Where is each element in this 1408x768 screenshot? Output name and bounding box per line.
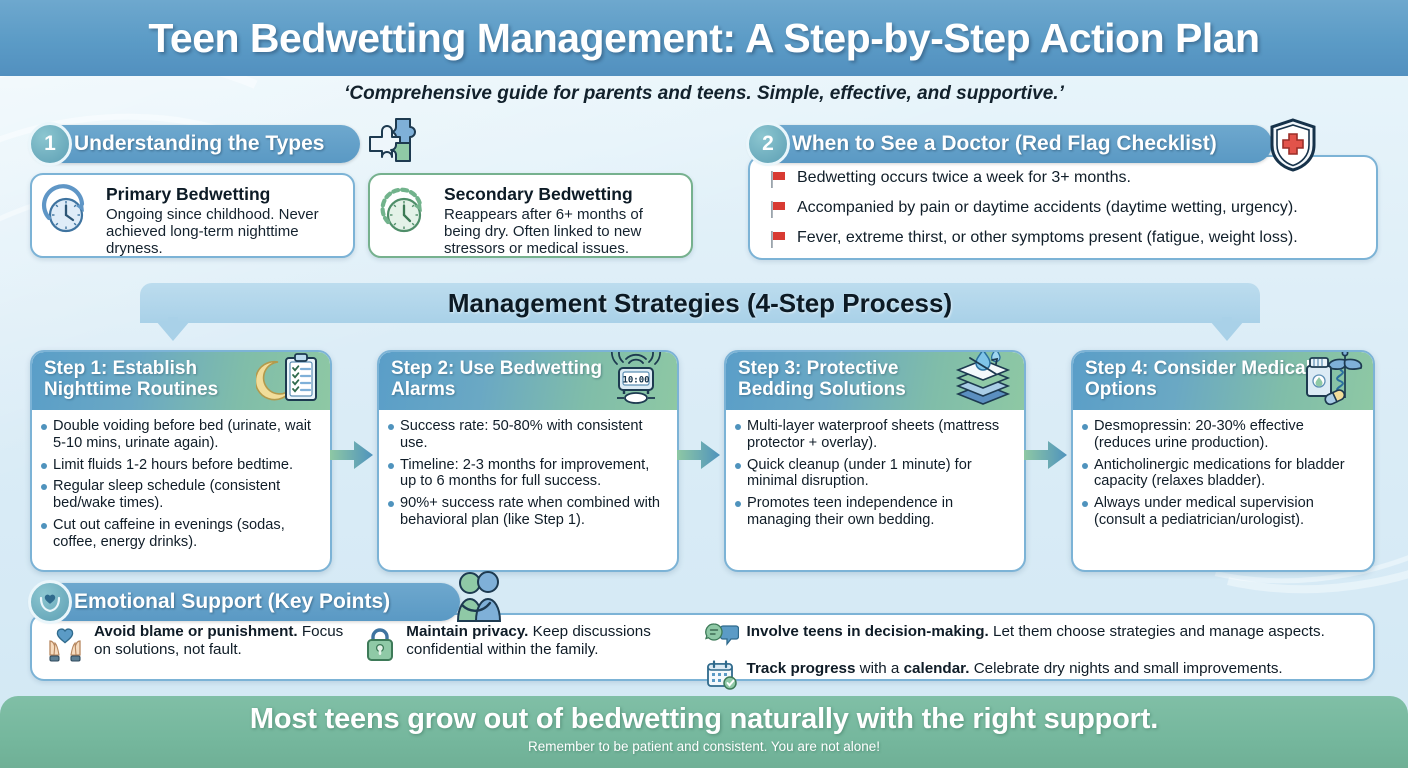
step-bullet: Multi-layer waterproof sheets (mattress … — [735, 418, 1014, 452]
bullet-dot — [1082, 463, 1088, 469]
emotional-item-bold: Track progress — [747, 660, 856, 677]
bullet-dot — [41, 484, 47, 490]
section1-number: 1 — [28, 122, 72, 166]
banner-arrow-down-right — [1210, 321, 1244, 341]
bullet-dot — [388, 501, 394, 507]
infographic-canvas: Teen Bedwetting Management: A Step-by-St… — [0, 0, 1408, 768]
step-bullet: Desmopressin: 20-30% effective (reduces … — [1082, 418, 1363, 452]
type-card-secondary-heading: Secondary Bedwetting — [444, 185, 681, 205]
step-2-header: Step 2: Use Bedwetting Alarms 10:00 — [379, 352, 677, 410]
step-1-title: Step 1: Establish Nighttime Routines — [44, 358, 268, 401]
step-bullet: Regular sleep schedule (consistent bed/w… — [41, 478, 320, 512]
bullet-dot — [41, 523, 47, 529]
step-4-title: Step 4: Consider Medical Options — [1085, 358, 1311, 401]
type-card-primary-body: Ongoing since childhood. Never achieved … — [106, 206, 343, 257]
step-arrow-3-to-4 — [1024, 440, 1068, 470]
emotional-item-rest: Let them choose strategies and manage as… — [993, 623, 1325, 640]
step-bullet: Anticholinergic medications for bladder … — [1082, 457, 1363, 491]
emotional-item-bold: Involve teens in decision-making. — [747, 623, 989, 640]
type-card-primary: Primary Bedwetting Ongoing since childho… — [30, 173, 355, 258]
step-card-3: Step 3: Protective Bedding Solutions — [724, 350, 1026, 572]
bullet-dot — [1082, 424, 1088, 430]
management-banner-label: Management Strategies (4-Step Process) — [140, 288, 1260, 319]
heart-hands-icon — [44, 623, 86, 672]
step-bullet: Always under medical supervision (consul… — [1082, 495, 1363, 529]
section2-body: Bedwetting occurs twice a week for 3+ mo… — [748, 155, 1378, 260]
red-flag-icon — [768, 229, 788, 249]
red-flag-item: Fever, extreme thirst, or other symptoms… — [768, 229, 1362, 249]
management-banner-bar: Management Strategies (4-Step Process) — [140, 283, 1260, 323]
step-3-title: Step 3: Protective Bedding Solutions — [738, 358, 962, 401]
emotional-item-bold: Avoid blame or punishment. — [94, 623, 298, 640]
step-card-1: Step 1: Establish Nighttime Routines — [30, 350, 332, 572]
emotional-item-track-progress: Track progress with a calendar. Celebrat… — [705, 660, 1361, 695]
step-card-4: Step 4: Consider Medical Options — [1071, 350, 1375, 572]
footer-main-text: Most teens grow out of bedwetting natura… — [0, 703, 1408, 736]
calendar-check-icon — [705, 660, 739, 695]
section2-header: When to See a Doctor (Red Flag Checklist… — [748, 125, 1272, 163]
step-3-header: Step 3: Protective Bedding Solutions — [726, 352, 1024, 410]
waterproof-layers-droplet-icon — [948, 350, 1018, 415]
heart-in-hands-icon — [28, 580, 72, 624]
step-arrow-2-to-3 — [677, 440, 721, 470]
section2-number: 2 — [746, 122, 790, 166]
emotional-support-header: Emotional Support (Key Points) — [30, 583, 460, 621]
footer-banner: Most teens grow out of bedwetting natura… — [0, 696, 1408, 768]
bullet-dot — [388, 463, 394, 469]
emotional-support-body: Avoid blame or punishment. Focus on solu… — [30, 613, 1375, 681]
alarm-time-display: 10:00 — [622, 376, 649, 386]
red-flag-item: Bedwetting occurs twice a week for 3+ mo… — [768, 169, 1362, 189]
bullet-dot — [41, 463, 47, 469]
puzzle-pieces-icon — [360, 115, 432, 178]
emotional-item-text: Avoid blame or punishment. Focus on solu… — [94, 623, 362, 659]
emotional-item-text: Track progress with a calendar. Celebrat… — [747, 660, 1283, 678]
type-card-secondary: Secondary Bedwetting Reappears after 6+ … — [368, 173, 693, 258]
type-card-primary-heading: Primary Bedwetting — [106, 185, 343, 205]
step-4-header: Step 4: Consider Medical Options — [1073, 352, 1373, 410]
step-bullet: 90%+ success rate when combined with beh… — [388, 495, 667, 529]
emotional-item-text: Involve teens in decision-making. Let th… — [747, 623, 1325, 641]
step-bullet: Timeline: 2-3 months for improvement, up… — [388, 457, 667, 491]
step-2-body: Success rate: 50-80% with consistent use… — [379, 410, 677, 540]
emotional-item-bold: Maintain privacy. — [406, 623, 528, 640]
type-card-secondary-body: Reappears after 6+ months of being dry. … — [444, 206, 681, 257]
step-bullet: Promotes teen independence in managing t… — [735, 495, 1014, 529]
emotional-items-right-column: Involve teens in decision-making. Let th… — [705, 623, 1361, 695]
clock-arrow-green-icon — [378, 184, 436, 247]
padlock-icon — [362, 623, 398, 670]
section1-header: Understanding the Types — [30, 125, 360, 163]
bullet-dot — [1082, 501, 1088, 507]
emotional-support-grid: Avoid blame or punishment. Focus on solu… — [44, 623, 1361, 695]
step-bullet: Cut out caffeine in evenings (sodas, cof… — [41, 517, 320, 551]
emotional-item-bold2: calendar. — [904, 660, 970, 677]
clock-arrow-blue-icon — [40, 184, 98, 247]
speech-bubbles-icon — [705, 623, 739, 654]
bullet-dot — [735, 424, 741, 430]
bullet-dot — [735, 501, 741, 507]
bullet-dot — [735, 463, 741, 469]
page-title: Teen Bedwetting Management: A Step-by-St… — [148, 15, 1259, 62]
footer-sub-text: Remember to be patient and consistent. Y… — [0, 739, 1408, 754]
bullet-dot — [41, 424, 47, 430]
emotional-item-privacy: Maintain privacy. Keep discussions confi… — [362, 623, 690, 695]
step-arrow-1-to-2 — [330, 440, 374, 470]
step-1-header: Step 1: Establish Nighttime Routines — [32, 352, 330, 410]
title-bar: Teen Bedwetting Management: A Step-by-St… — [0, 0, 1408, 76]
pill-bottle-caduceus-icon — [1295, 350, 1367, 415]
step-bullet: Success rate: 50-80% with consistent use… — [388, 418, 667, 452]
red-flag-item: Accompanied by pain or daytime accidents… — [768, 199, 1362, 219]
bullet-dot — [388, 424, 394, 430]
banner-arrow-down-left — [156, 321, 190, 341]
emotional-item-avoid-blame: Avoid blame or punishment. Focus on solu… — [44, 623, 362, 695]
section2-label: When to See a Doctor (Red Flag Checklist… — [792, 132, 1217, 156]
moon-clipboard-checklist-icon — [256, 350, 324, 415]
alarm-clock-icon: 10:00 — [601, 350, 671, 415]
emotional-item-mid: with a — [860, 660, 900, 677]
emotional-item-text: Maintain privacy. Keep discussions confi… — [406, 623, 690, 659]
step-1-body: Double voiding before bed (urinate, wait… — [32, 410, 330, 561]
step-3-body: Multi-layer waterproof sheets (mattress … — [726, 410, 1024, 540]
red-flag-icon — [768, 199, 788, 219]
step-4-body: Desmopressin: 20-30% effective (reduces … — [1073, 410, 1373, 540]
step-2-title: Step 2: Use Bedwetting Alarms — [391, 358, 615, 401]
step-bullet: Quick cleanup (under 1 minute) for minim… — [735, 457, 1014, 491]
emotional-item-involve-teens: Involve teens in decision-making. Let th… — [705, 623, 1361, 654]
step-bullet: Double voiding before bed (urinate, wait… — [41, 418, 320, 452]
section1-label: Understanding the Types — [74, 132, 324, 156]
page-subtitle: ‘Comprehensive guide for parents and tee… — [0, 83, 1408, 105]
emotional-item-rest: Celebrate dry nights and small improveme… — [974, 660, 1283, 677]
emotional-support-label: Emotional Support (Key Points) — [74, 590, 390, 614]
step-bullet: Limit fluids 1-2 hours before bedtime. — [41, 457, 320, 474]
management-strategies-banner: Management Strategies (4-Step Process) — [140, 283, 1260, 345]
red-flag-icon — [768, 169, 788, 189]
step-card-2: Step 2: Use Bedwetting Alarms 10:00 — [377, 350, 679, 572]
